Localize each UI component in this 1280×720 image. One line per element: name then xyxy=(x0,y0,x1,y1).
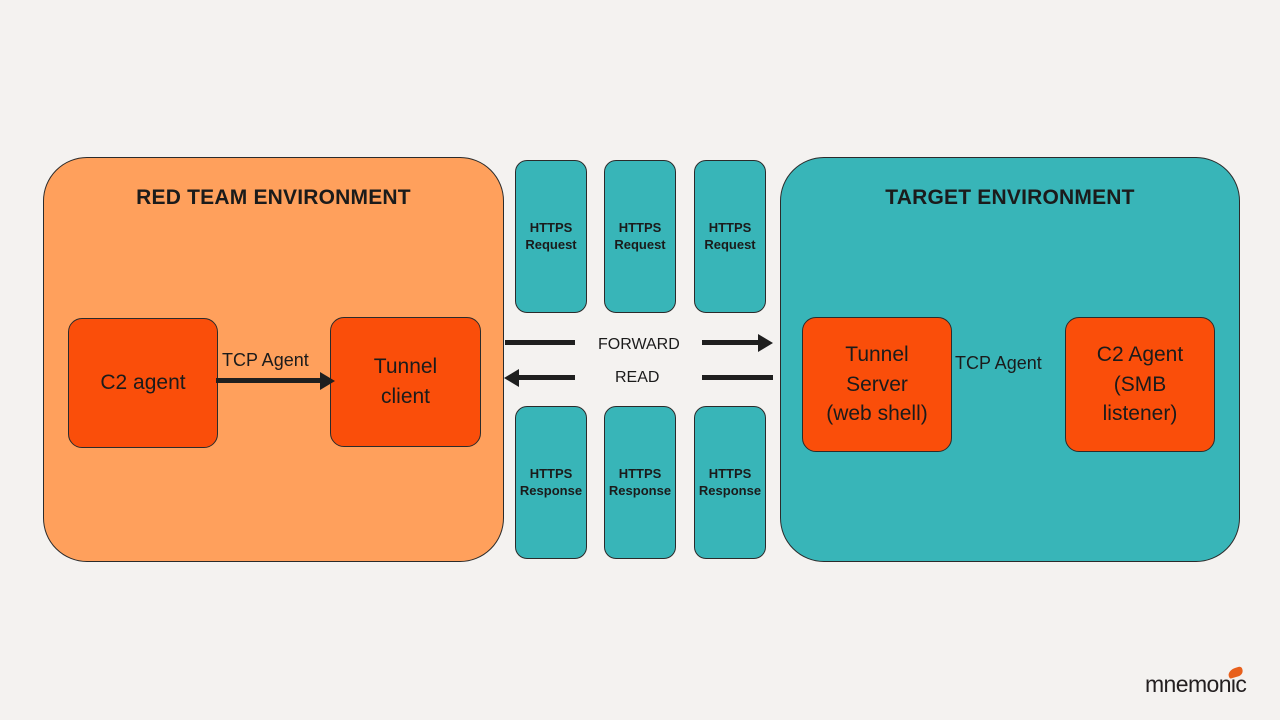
node-tunnel-server-line-1: Tunnel xyxy=(826,340,928,370)
https-response-packet-3-line-2: Response xyxy=(699,483,761,498)
forward-arrowhead-right xyxy=(758,334,773,352)
https-response-packet-1-line-1: HTTPS xyxy=(530,466,573,481)
https-request-packet-1-line-2: Request xyxy=(525,237,576,252)
https-response-packet-1: HTTPS Response xyxy=(515,406,587,559)
https-response-packet-3-line-1: HTTPS xyxy=(709,466,752,481)
forward-arrow-line-right xyxy=(702,340,758,345)
tcp-agent-label-red: TCP Agent xyxy=(222,350,309,371)
node-tunnel-server: Tunnel Server (web shell) xyxy=(802,317,952,452)
read-arrowhead-left xyxy=(504,369,519,387)
https-request-packet-2-line-1: HTTPS xyxy=(619,220,662,235)
tcp-agent-arrow-line-red xyxy=(216,378,320,383)
read-arrow-line-right xyxy=(702,375,773,380)
https-request-packet-2: HTTPS Request xyxy=(604,160,676,313)
diagram-canvas: RED TEAM ENVIRONMENT C2 agent Tunnel cli… xyxy=(0,0,1280,720)
node-c2-agent-smb-line-2: (SMB xyxy=(1097,370,1183,400)
node-tunnel-server-line-3: (web shell) xyxy=(826,399,928,429)
tcp-agent-label-target: TCP Agent xyxy=(955,353,1042,374)
https-response-packet-2: HTTPS Response xyxy=(604,406,676,559)
https-request-packet-1-line-1: HTTPS xyxy=(530,220,573,235)
read-arrow-line-left xyxy=(519,375,575,380)
https-request-packet-3-line-2: Request xyxy=(704,237,755,252)
node-c2-agent-smb-listener: C2 Agent (SMB listener) xyxy=(1065,317,1215,452)
forward-label: FORWARD xyxy=(598,336,680,354)
https-request-packet-2-line-2: Request xyxy=(614,237,665,252)
https-request-packet-3-line-1: HTTPS xyxy=(709,220,752,235)
mnemonic-logo: mnemonic xyxy=(1145,668,1255,698)
target-environment-title: TARGET ENVIRONMENT xyxy=(781,186,1239,210)
https-request-packet-3: HTTPS Request xyxy=(694,160,766,313)
node-c2-agent-smb-line-1: C2 Agent xyxy=(1097,340,1183,370)
node-c2-agent-label: C2 agent xyxy=(100,368,185,398)
https-response-packet-2-line-1: HTTPS xyxy=(619,466,662,481)
node-tunnel-client-line-1: Tunnel xyxy=(374,352,437,382)
node-c2-agent-smb-line-3: listener) xyxy=(1097,399,1183,429)
node-c2-agent: C2 agent xyxy=(68,318,218,448)
node-tunnel-server-line-2: Server xyxy=(826,370,928,400)
https-response-packet-2-line-2: Response xyxy=(609,483,671,498)
https-response-packet-1-line-2: Response xyxy=(520,483,582,498)
red-team-environment-title: RED TEAM ENVIRONMENT xyxy=(44,186,503,210)
node-tunnel-client: Tunnel client xyxy=(330,317,481,447)
https-request-packet-1: HTTPS Request xyxy=(515,160,587,313)
forward-arrow-line-left xyxy=(505,340,575,345)
tcp-agent-arrowhead-right-red xyxy=(320,372,335,390)
https-response-packet-3: HTTPS Response xyxy=(694,406,766,559)
read-label: READ xyxy=(615,369,659,387)
node-tunnel-client-line-2: client xyxy=(374,382,437,412)
